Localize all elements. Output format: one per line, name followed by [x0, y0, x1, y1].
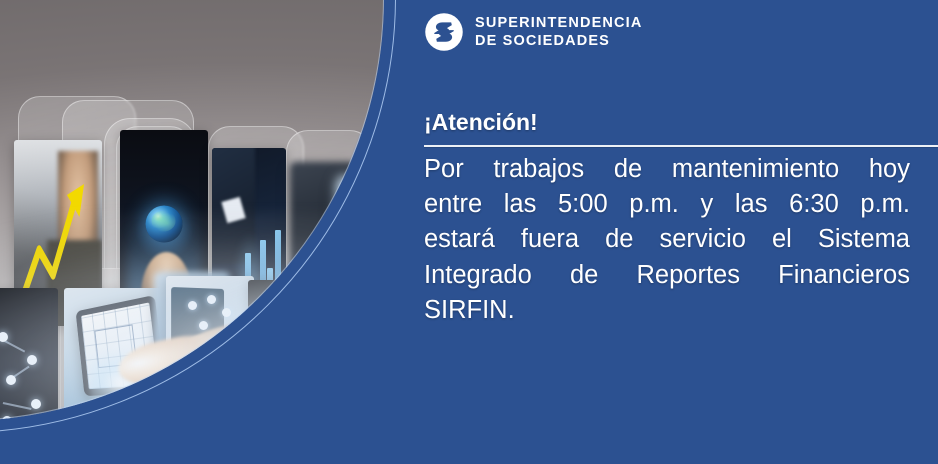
- notice-body: Por trabajos de mantenimiento hoy entre …: [424, 152, 910, 328]
- maintenance-notice-banner: SUPERINTENDENCIA DE SOCIEDADES ¡Atención…: [0, 0, 938, 464]
- notice-body-line: Integrado de Reportes Financieros: [424, 258, 910, 293]
- secondary-screen-photo: [300, 288, 358, 408]
- brand-line-1: SUPERINTENDENCIA: [475, 16, 642, 31]
- notice-body-line: SIRFIN.: [424, 293, 910, 328]
- secondary-screen-photo: [336, 176, 394, 318]
- notice-body-line: estará fuera de servicio el Sistema: [424, 222, 910, 257]
- shirt-cuff: [277, 347, 414, 459]
- notice-headline: ¡Atención!: [424, 110, 538, 135]
- superintendencia-logo-icon: [424, 12, 464, 52]
- notice-body-line: entre las 5:00 p.m. y las 6:30 p.m.: [424, 187, 910, 222]
- brand-wordmark: SUPERINTENDENCIA DE SOCIEDADES: [475, 15, 642, 49]
- brand-line-2: DE SOCIEDADES: [475, 34, 642, 49]
- notice-content: SUPERINTENDENCIA DE SOCIEDADES ¡Atención…: [424, 0, 938, 464]
- notice-body-line: Por trabajos de mantenimiento hoy: [424, 152, 910, 187]
- headline-divider: [424, 145, 938, 147]
- brand-lockup: SUPERINTENDENCIA DE SOCIEDADES: [424, 12, 642, 52]
